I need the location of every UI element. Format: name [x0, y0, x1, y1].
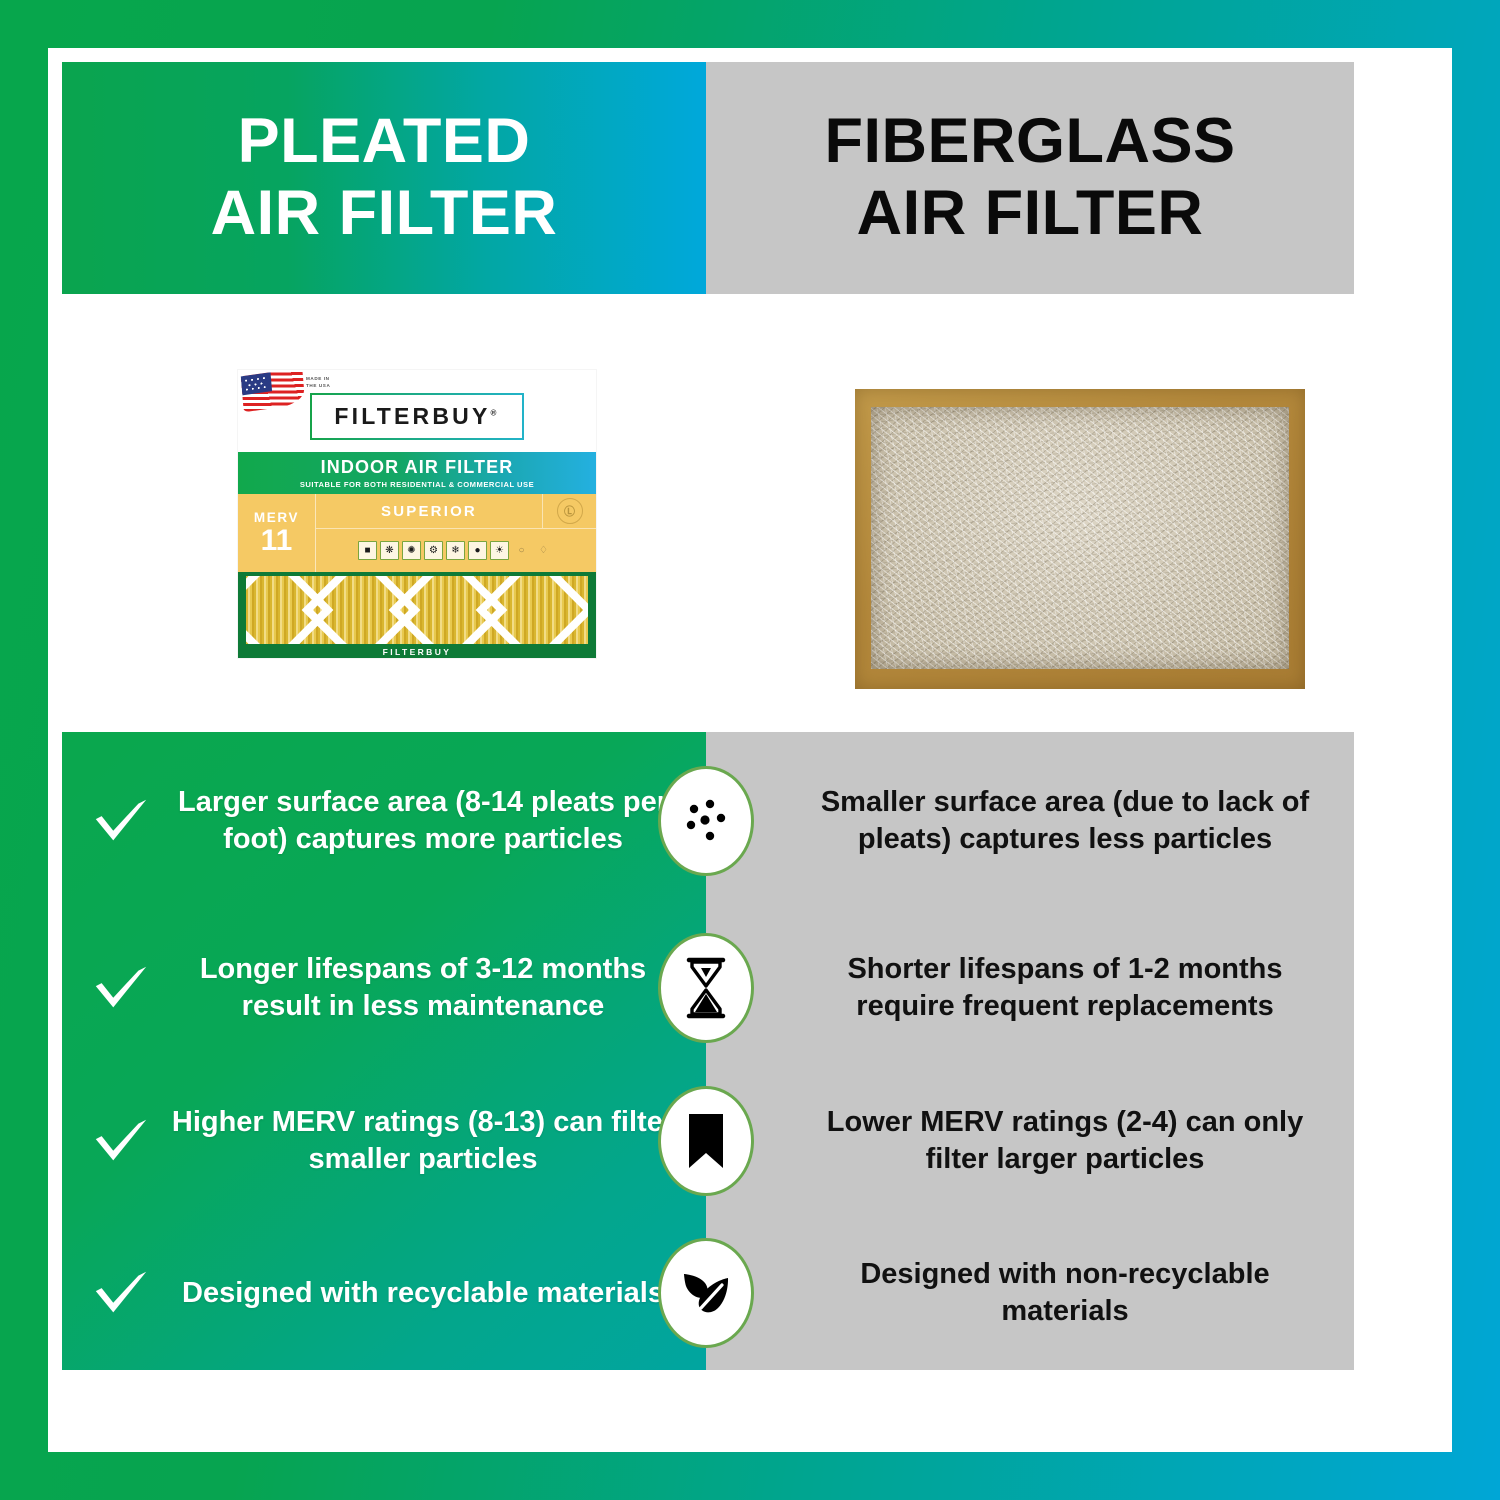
header-fiberglass-line2: AIR FILTER [824, 178, 1235, 250]
header-fiberglass-line1: FIBERGLASS [824, 106, 1235, 178]
check-icon [90, 1262, 152, 1324]
header-band: PLEATED AIR FILTER FIBERGLASS AIR FILTER [62, 62, 1354, 294]
merv-value: 11 [261, 526, 293, 556]
row-left-cell: Larger surface area (8-14 pleats per foo… [62, 784, 706, 857]
hourglass-icon [658, 933, 754, 1043]
fiberglass-filter-photo [855, 389, 1305, 689]
header-fiberglass-title: FIBERGLASS AIR FILTER [824, 106, 1235, 250]
particles-icon [658, 766, 754, 876]
comparison-row: Larger surface area (8-14 pleats per foo… [62, 732, 1354, 910]
certification-seal: Ⓛ [542, 494, 596, 528]
brand-name: FILTERBUY® [334, 403, 499, 430]
check-icon [90, 790, 152, 852]
product-images-section: MADE IN THE USA FILTERBUY® INDOOR AIR FI… [62, 294, 1354, 732]
header-pleated-title: PLEATED AIR FILTER [211, 106, 558, 250]
bookmark-icon [658, 1086, 754, 1196]
row-right-text: Smaller surface area (due to lack of ple… [706, 784, 1354, 857]
row-left-text: Larger surface area (8-14 pleats per foo… [168, 784, 678, 857]
brand-name-text: FILTERBUY [334, 403, 490, 429]
comparison-row: Higher MERV ratings (8-13) can filter sm… [62, 1066, 1354, 1216]
pleat-footer-brand: FILTERBUY [238, 647, 596, 657]
comparison-row: Designed with recyclable materials Desig… [62, 1216, 1354, 1370]
leaf-eco-icon [658, 1238, 754, 1348]
usa-flag-icon [241, 370, 306, 412]
mold-spore-icon: ❄ [446, 541, 465, 560]
package-header: MADE IN THE USA FILTERBUY® [238, 370, 596, 452]
smoke-icon: ☀ [490, 541, 509, 560]
row-left-text: Higher MERV ratings (8-13) can filter sm… [168, 1104, 678, 1177]
made-in-line1: MADE IN [306, 376, 330, 383]
fiberglass-media-texture [871, 407, 1289, 669]
row-left-cell: Longer lifespans of 3-12 months result i… [62, 951, 706, 1024]
merv-label: MERV [254, 510, 299, 525]
odor-icon-faded: ♢ [534, 541, 553, 560]
package-tier-block: SUPERIOR Ⓛ ■ ❋ ✺ ⚙ ❄ ● ☀ ○ ♢ [316, 494, 596, 572]
trademark-symbol: ® [491, 408, 500, 417]
row-left-text: Designed with recyclable materials [168, 1275, 678, 1312]
comparison-section: Larger surface area (8-14 pleats per foo… [62, 732, 1354, 1370]
feature-icon-row: ■ ❋ ✺ ⚙ ❄ ● ☀ ○ ♢ [316, 529, 596, 572]
broom-icon: ■ [358, 541, 377, 560]
pollen-icon: ✺ [402, 541, 421, 560]
support-diamond [476, 576, 588, 644]
check-icon [90, 1110, 152, 1172]
check-icon [90, 957, 152, 1019]
row-left-text: Longer lifespans of 3-12 months result i… [168, 951, 678, 1024]
suitable-use-label: SUITABLE FOR BOTH RESIDENTIAL & COMMERCI… [300, 480, 534, 489]
pleat-media-texture [246, 576, 588, 644]
row-left-cell: Designed with recyclable materials [62, 1262, 706, 1324]
row-right-text: Shorter lifespans of 1-2 months require … [706, 951, 1354, 1024]
merv-rating-block: MERV 11 [238, 494, 316, 572]
made-in-usa-label: MADE IN THE USA [306, 376, 330, 390]
row-right-text: Lower MERV ratings (2-4) can only filter… [706, 1104, 1354, 1177]
header-pleated-line2: AIR FILTER [211, 178, 558, 250]
dust-mite-icon: ❋ [380, 541, 399, 560]
header-pleated: PLEATED AIR FILTER [62, 62, 706, 294]
tier-label: SUPERIOR [316, 503, 542, 520]
header-pleated-line1: PLEATED [211, 106, 558, 178]
row-right-text: Designed with non-recyclable materials [706, 1256, 1354, 1329]
fiberglass-product-cell [708, 294, 1354, 732]
made-in-line2: THE USA [306, 383, 330, 390]
pleated-product-cell: MADE IN THE USA FILTERBUY® INDOOR AIR FI… [62, 294, 708, 732]
comparison-row: Longer lifespans of 3-12 months result i… [62, 910, 1354, 1066]
tier-row: SUPERIOR Ⓛ [316, 494, 596, 529]
pleated-filter-package: MADE IN THE USA FILTERBUY® INDOOR AIR FI… [238, 370, 596, 658]
brand-logo-box: FILTERBUY® [310, 393, 523, 440]
bacteria-icon: ⚙ [424, 541, 443, 560]
virus-icon-faded: ○ [512, 541, 531, 560]
header-fiberglass: FIBERGLASS AIR FILTER [706, 62, 1354, 294]
pet-dander-icon: ● [468, 541, 487, 560]
package-merv-section: MERV 11 SUPERIOR Ⓛ ■ ❋ ✺ ⚙ [238, 494, 596, 572]
indoor-air-filter-label: INDOOR AIR FILTER [321, 457, 514, 478]
pleated-media-view: FILTERBUY [238, 572, 596, 658]
package-indoor-band: INDOOR AIR FILTER SUITABLE FOR BOTH RESI… [238, 452, 596, 494]
seal-ring-icon: Ⓛ [557, 498, 583, 524]
row-left-cell: Higher MERV ratings (8-13) can filter sm… [62, 1104, 706, 1177]
